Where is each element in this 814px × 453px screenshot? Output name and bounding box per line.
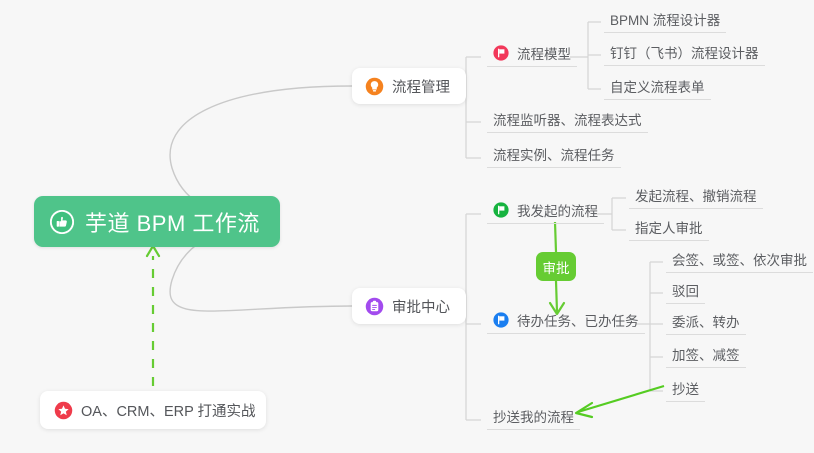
leaf-label-start-cancel: 发起流程、撤销流程: [635, 185, 757, 205]
branch-node-approval-center[interactable]: 审批中心: [352, 288, 466, 324]
leaf-label-flow-instance: 流程实例、流程任务: [493, 144, 615, 164]
leaf-label-delegate-transfer: 委派、转办: [672, 311, 740, 331]
clipboard-icon: [365, 297, 384, 316]
leaf-my-started-flows[interactable]: 我发起的流程: [487, 200, 604, 224]
leaf-label-cc: 抄送: [672, 378, 699, 398]
leaf-label-my-started-flows: 我发起的流程: [517, 200, 598, 220]
branch-node-flow-management[interactable]: 流程管理: [352, 68, 466, 104]
leaf-flow-listener[interactable]: 流程监听器、流程表达式: [487, 109, 648, 133]
dashed-green-arrow: [147, 246, 159, 386]
leaf-label-todo-done-tasks: 待办任务、已办任务: [517, 310, 639, 330]
approval-badge[interactable]: 审批: [536, 252, 576, 281]
mindmap-canvas: 芋道 BPM 工作流 流程管理 审批中心: [0, 0, 814, 453]
integration-practice-label: OA、CRM、ERP 打通实战: [81, 400, 256, 421]
thumbs-up-icon: [50, 210, 74, 234]
approval-badge-label: 审批: [543, 257, 570, 277]
leaf-flow-instance[interactable]: 流程实例、流程任务: [487, 144, 621, 168]
leaf-delegate-transfer[interactable]: 委派、转办: [666, 311, 746, 335]
leaf-add-remove-sign[interactable]: 加签、减签: [666, 344, 746, 368]
leaf-bpmn-designer[interactable]: BPMN 流程设计器: [604, 9, 726, 33]
branch-label-flow-management: 流程管理: [392, 76, 450, 97]
leaf-label-custom-form: 自定义流程表单: [610, 76, 705, 96]
flag-green-icon: [493, 202, 509, 218]
leaf-label-flow-model: 流程模型: [517, 43, 571, 63]
leaf-assign-approver[interactable]: 指定人审批: [629, 217, 709, 241]
root-label: 芋道 BPM 工作流: [85, 206, 260, 238]
leaf-reject[interactable]: 驳回: [666, 280, 705, 304]
integration-practice-node[interactable]: OA、CRM、ERP 打通实战: [40, 391, 266, 429]
leaf-flow-model[interactable]: 流程模型: [487, 43, 577, 67]
cc-flow-arrow: [576, 386, 664, 417]
leaf-dingtalk-designer[interactable]: 钉钉（飞书）流程设计器: [604, 42, 765, 66]
leaf-custom-form[interactable]: 自定义流程表单: [604, 76, 711, 100]
leaf-cc[interactable]: 抄送: [666, 378, 705, 402]
flag-red-icon: [493, 45, 509, 61]
leaf-start-cancel[interactable]: 发起流程、撤销流程: [629, 185, 763, 209]
leaf-label-reject: 驳回: [672, 280, 699, 300]
leaf-label-flow-listener: 流程监听器、流程表达式: [493, 109, 642, 129]
leaf-label-assign-approver: 指定人审批: [635, 217, 703, 237]
leaf-label-cc-to-me: 抄送我的流程: [493, 406, 574, 426]
leaf-cc-to-me[interactable]: 抄送我的流程: [487, 406, 580, 430]
leaf-label-dingtalk-designer: 钉钉（飞书）流程设计器: [610, 42, 759, 62]
leaf-todo-done-tasks[interactable]: 待办任务、已办任务: [487, 310, 645, 334]
branch-label-approval-center: 审批中心: [392, 296, 450, 317]
root-node[interactable]: 芋道 BPM 工作流: [34, 196, 280, 247]
flag-blue-icon: [493, 312, 509, 328]
star-icon: [54, 401, 73, 420]
leaf-label-multi-sign: 会签、或签、依次审批: [672, 249, 807, 269]
lightbulb-icon: [365, 77, 384, 96]
leaf-label-add-remove-sign: 加签、减签: [672, 344, 740, 364]
leaf-multi-sign[interactable]: 会签、或签、依次审批: [666, 249, 813, 273]
leaf-label-bpmn-designer: BPMN 流程设计器: [610, 9, 720, 29]
